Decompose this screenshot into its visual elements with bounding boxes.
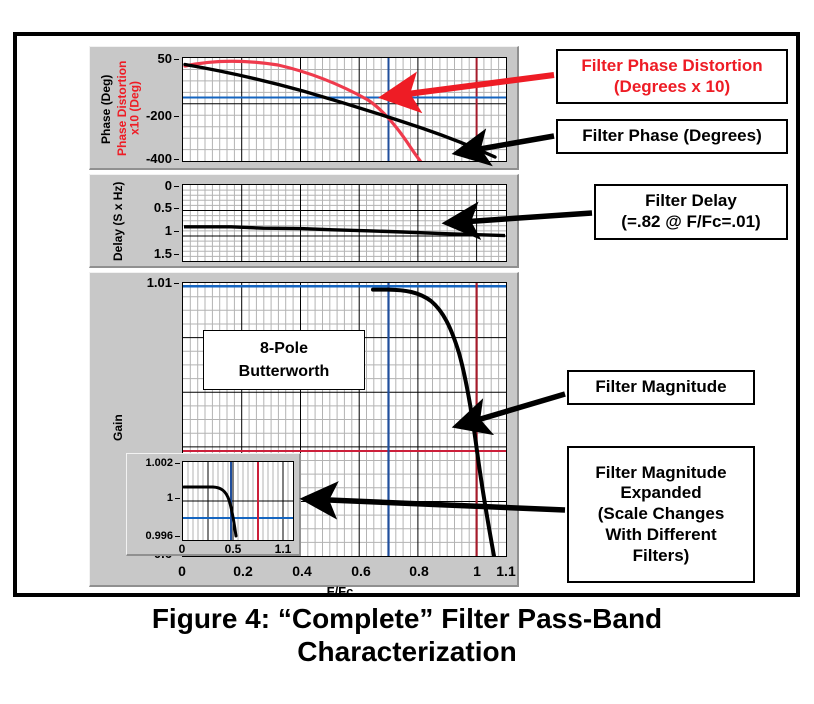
delay-ytick-3: 1.5 xyxy=(126,246,172,261)
inset-ytick-0: 1.002 xyxy=(127,457,173,469)
gain-x-axis-label: F/Fc xyxy=(250,584,430,599)
callout-magexp-line1: Filter Magnitude xyxy=(595,463,726,484)
callout-magexp-line2: Expanded xyxy=(620,483,701,504)
delay-plot-area xyxy=(182,184,507,262)
figure-caption-line2: Characterization xyxy=(0,635,814,668)
inset-ytick-2: 0.996 xyxy=(127,530,173,542)
delay-ytick-2: 1 xyxy=(130,223,172,238)
gain-inset-panel: 1.002 1 0.996 xyxy=(126,453,301,556)
callout-magexp-line3: (Scale Changes xyxy=(598,504,725,525)
filter-type-annotation: 8-Pole Butterworth xyxy=(203,330,365,390)
figure-container: Phase (Deg) Phase Distortion x10 (Deg) 5… xyxy=(0,0,814,704)
phase-ytick-2: -400 xyxy=(130,151,172,166)
gain-panel: Gain 1.01 0.6 xyxy=(89,272,519,587)
delay-ytick-1: 0.5 xyxy=(130,200,172,215)
gain-xtick-1: 0.2 xyxy=(227,563,259,579)
gain-xtick-5: 1 xyxy=(463,563,491,579)
gain-inset-plot-area xyxy=(182,461,294,541)
callout-phase-distortion-line1: Filter Phase Distortion xyxy=(581,56,762,77)
callout-filter-delay-line2: (=.82 @ F/Fc=.01) xyxy=(621,212,760,233)
figure-frame: Phase (Deg) Phase Distortion x10 (Deg) 5… xyxy=(13,32,800,597)
inset-xtick-1: 0.5 xyxy=(220,542,246,556)
figure-caption: Figure 4: “Complete” Filter Pass-Band Ch… xyxy=(0,602,814,668)
gain-ytick-top: 1.01 xyxy=(122,275,172,290)
phase-plot-svg xyxy=(183,58,506,161)
phase-y-axis-label: Phase (Deg) xyxy=(100,53,114,165)
gain-xtick-6: 1.1 xyxy=(490,563,522,579)
delay-plot-svg xyxy=(183,185,506,261)
gain-y-axis-label: Gain xyxy=(112,403,128,453)
gain-xtick-4: 0.8 xyxy=(403,563,435,579)
inset-xtick-0: 0 xyxy=(171,542,193,556)
callout-filter-magnitude-expanded: Filter Magnitude Expanded (Scale Changes… xyxy=(567,446,755,583)
gain-xtick-3: 0.6 xyxy=(345,563,377,579)
callout-phase-distortion-line2: (Degrees x 10) xyxy=(614,77,730,98)
inset-ytick-1: 1 xyxy=(127,492,173,504)
filter-type-line2: Butterworth xyxy=(239,360,330,383)
callout-filter-magnitude-line1: Filter Magnitude xyxy=(595,377,726,398)
callout-filter-phase-line1: Filter Phase (Degrees) xyxy=(582,126,762,147)
phase-panel: Phase (Deg) Phase Distortion x10 (Deg) 5… xyxy=(89,46,519,170)
callout-magexp-line5: Filters) xyxy=(633,546,690,567)
callout-filter-delay: Filter Delay (=.82 @ F/Fc=.01) xyxy=(594,184,788,240)
callout-filter-phase: Filter Phase (Degrees) xyxy=(556,119,788,154)
callout-filter-delay-line1: Filter Delay xyxy=(645,191,737,212)
filter-type-line1: 8-Pole xyxy=(260,337,308,360)
gain-xtick-2: 0.4 xyxy=(286,563,318,579)
gain-inset-svg xyxy=(183,462,293,540)
figure-caption-line1: Figure 4: “Complete” Filter Pass-Band xyxy=(0,602,814,635)
phase-ytick-1: -200 xyxy=(130,108,172,123)
callout-magexp-line4: With Different xyxy=(605,525,716,546)
phase-plot-area xyxy=(182,57,507,162)
callout-filter-magnitude: Filter Magnitude xyxy=(567,370,755,405)
delay-ytick-0: 0 xyxy=(134,178,172,193)
delay-panel: Delay (S x Hz) 0 0.5 1 1.5 xyxy=(89,174,519,268)
filter-phase-curve xyxy=(185,65,495,158)
phase-ytick-0: 50 xyxy=(136,51,172,66)
callout-phase-distortion: Filter Phase Distortion (Degrees x 10) xyxy=(556,49,788,104)
inset-xtick-2: 1.1 xyxy=(270,542,296,556)
gain-xtick-0: 0 xyxy=(168,563,196,579)
